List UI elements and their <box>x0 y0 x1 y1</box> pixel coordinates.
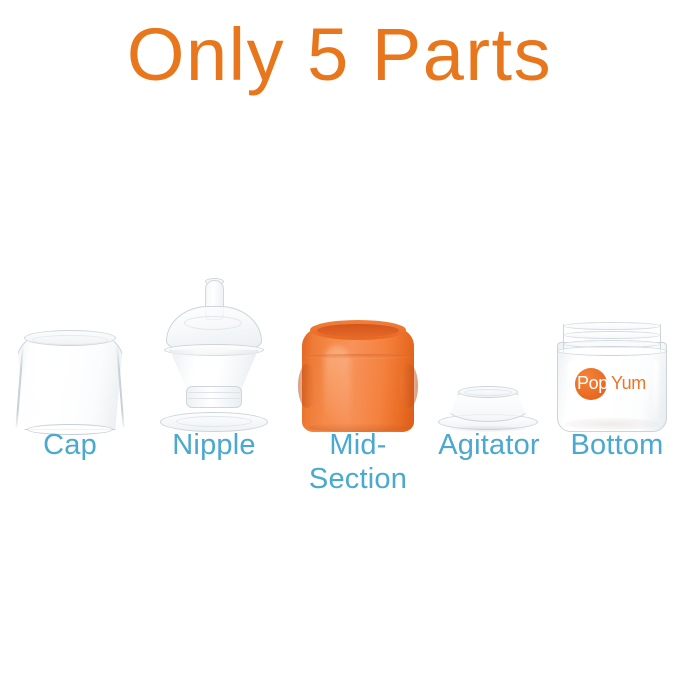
part-image-agitator <box>438 388 538 432</box>
mid-section-grip-left <box>298 364 316 408</box>
nipple-neck-line-2 <box>188 398 240 399</box>
logo-yum-text: Yum <box>611 373 646 394</box>
cap-top-inner-ring <box>32 335 108 345</box>
part-image-nipple <box>158 280 270 432</box>
bottom-shoulder <box>557 346 667 356</box>
popyum-logo: Pop Yum <box>575 368 651 400</box>
nipple-base-flange-inner <box>176 416 252 427</box>
mid-section-groove <box>304 354 412 359</box>
mid-section-inner-opening <box>317 324 399 337</box>
agitator-top-inner-ring <box>464 389 512 396</box>
product-parts-infographic: Only 5 Parts <box>0 0 679 679</box>
nipple-dome-highlight <box>184 316 242 330</box>
cap-highlight <box>34 344 50 418</box>
nipple-neck <box>186 386 242 408</box>
part-image-bottom: Pop Yum <box>557 322 667 432</box>
part-image-mid-section <box>298 320 418 432</box>
bottom-highlight-right <box>652 360 659 418</box>
nipple-neck-line-1 <box>188 392 240 393</box>
bottom-thread-2 <box>563 331 661 339</box>
cap-body-shape <box>16 332 124 430</box>
part-labels-row: Cap Nipple Mid-Section Agitator Bottom <box>0 428 679 508</box>
part-label-nipple: Nipple <box>148 428 280 462</box>
parts-row: Pop Yum <box>0 262 679 432</box>
part-label-bottom: Bottom <box>556 428 678 462</box>
part-label-agitator: Agitator <box>424 428 554 462</box>
mid-section-grip-right <box>400 364 418 408</box>
bottom-thread-1 <box>563 322 661 330</box>
part-image-cap <box>16 322 124 432</box>
part-label-mid-section: Mid-Section <box>292 428 424 496</box>
mid-section-body <box>302 326 414 432</box>
part-label-cap: Cap <box>6 428 134 462</box>
page-title: Only 5 Parts <box>0 18 679 92</box>
